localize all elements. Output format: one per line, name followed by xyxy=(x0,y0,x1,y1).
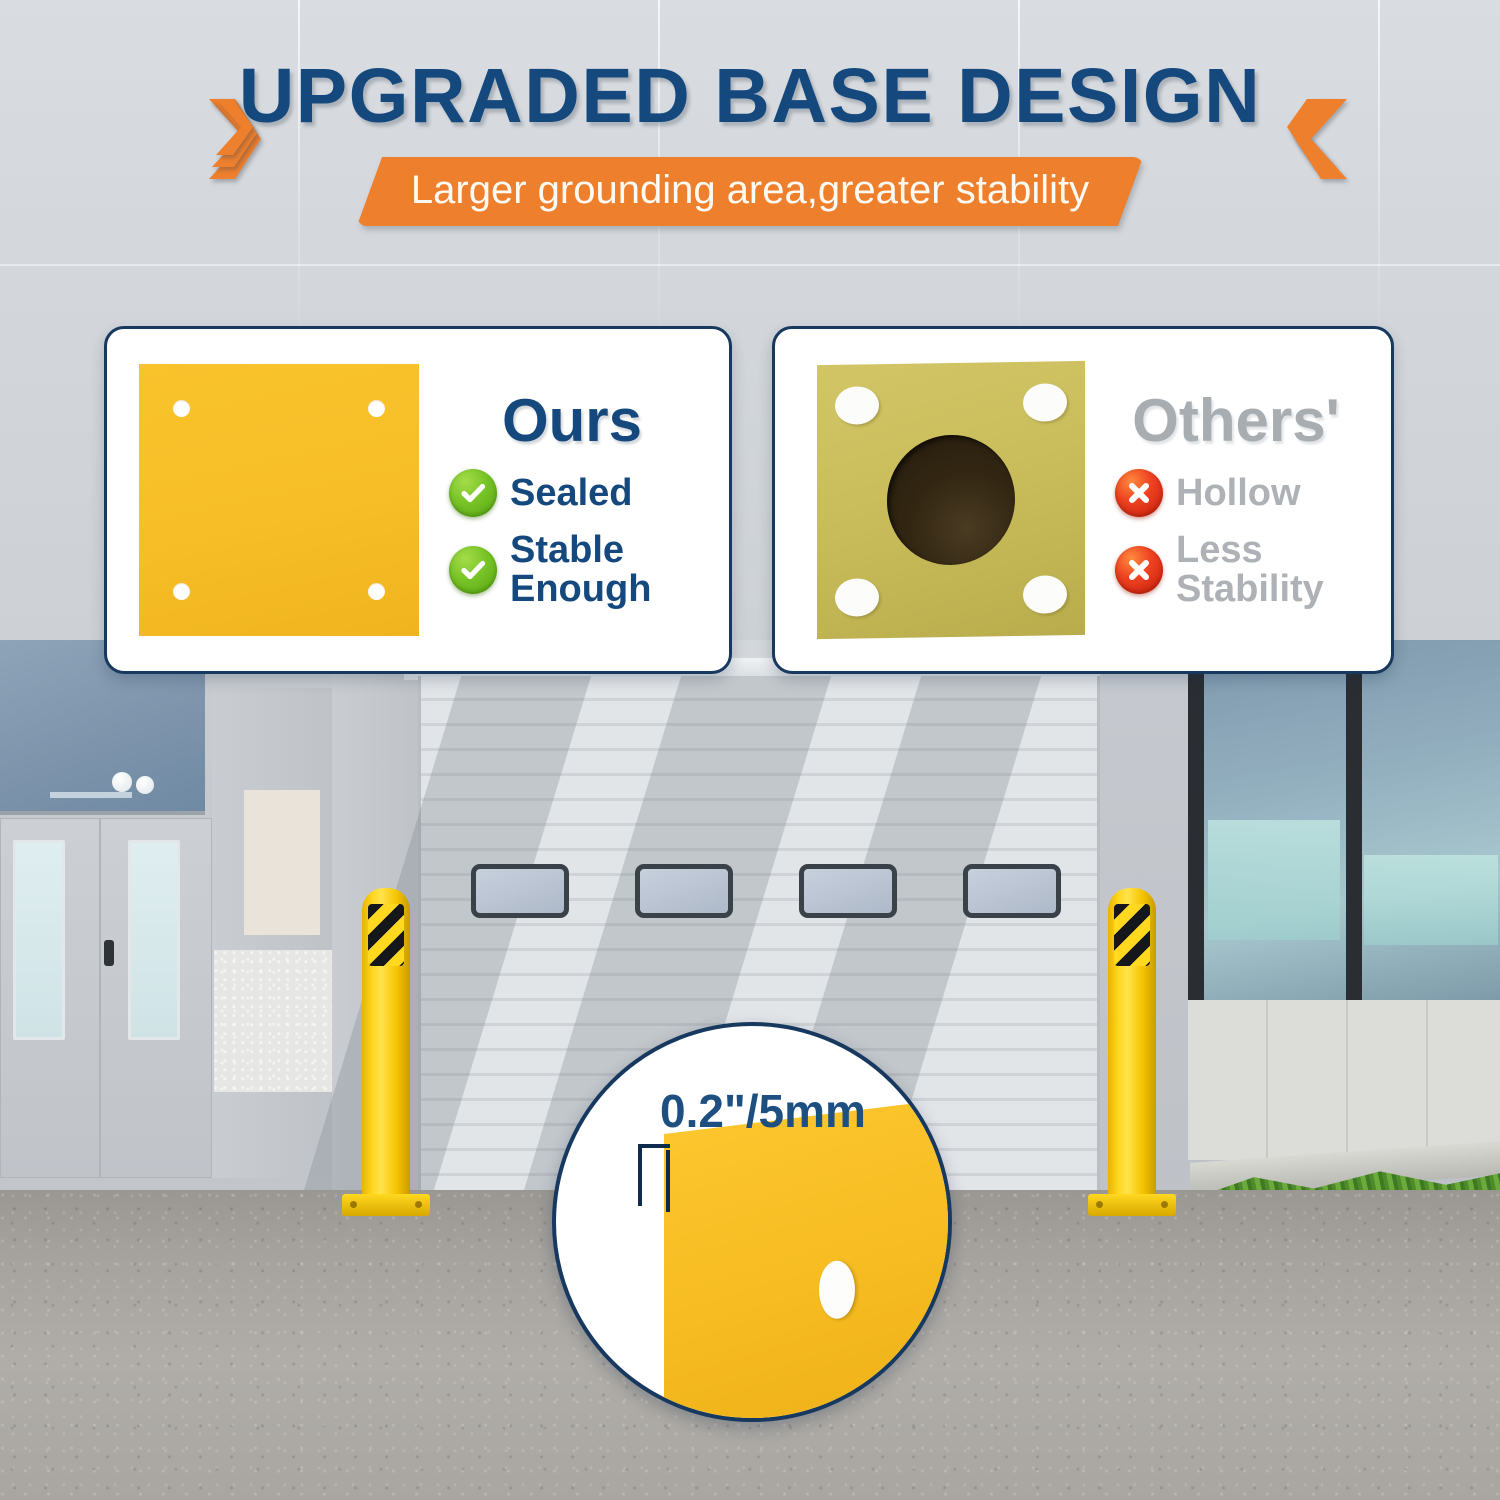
feature-list-others: Hollow Less Stability xyxy=(1099,469,1373,609)
dimension-label: 0.2"/5mm xyxy=(660,1084,866,1138)
center-bore-hole xyxy=(887,434,1015,566)
card-title-others: Others' xyxy=(1099,391,1373,451)
check-circle-icon xyxy=(449,546,497,594)
subtitle-text: Larger grounding area,greater stability xyxy=(411,168,1089,212)
safety-bollard-right xyxy=(1108,888,1156,1198)
sealed-base-plate xyxy=(107,364,419,636)
bolt-hole xyxy=(368,583,385,600)
feature-label: Hollow xyxy=(1176,474,1301,513)
bolt-slot xyxy=(835,578,879,617)
feature-label: Less Stability xyxy=(1176,531,1324,609)
bolt-hole xyxy=(368,400,385,417)
header-banner: UPGRADED BASE DESIGN Larger grounding ar… xyxy=(0,58,1500,226)
garage-door-window xyxy=(963,864,1061,918)
thickness-zoom-callout: 0.2"/5mm xyxy=(552,1022,952,1422)
page-title: UPGRADED BASE DESIGN xyxy=(239,58,1262,135)
hollow-base-plate xyxy=(775,363,1085,637)
bolt-hole xyxy=(173,583,190,600)
window-mullion xyxy=(1346,640,1362,1000)
subtitle-banner: Larger grounding area,greater stability xyxy=(357,157,1143,226)
plate-edge-closeup xyxy=(664,1093,952,1422)
garage-door-window xyxy=(799,864,897,918)
window-mullion xyxy=(1188,640,1204,1000)
feature-item: Sealed xyxy=(449,469,711,517)
wall-patch xyxy=(244,790,320,935)
door-glass-right xyxy=(128,840,180,1040)
bolt-slot xyxy=(1023,575,1067,614)
wall-band xyxy=(0,264,1500,266)
stone-wall-base xyxy=(1188,1000,1500,1160)
door-glass-left xyxy=(13,840,65,1040)
lamp-icon xyxy=(112,772,132,792)
garage-door-window xyxy=(635,864,733,918)
lamp-icon xyxy=(136,776,154,794)
comparison-card-ours: Ours Sealed Stable Enough xyxy=(104,326,732,674)
door-handle xyxy=(104,940,114,966)
x-circle-icon xyxy=(1115,546,1163,594)
bolt-slot xyxy=(835,386,879,425)
feature-label: Stable Enough xyxy=(510,531,651,609)
bolt-hole xyxy=(173,400,190,417)
comparison-card-others: Others' Hollow Less Stability xyxy=(772,326,1394,674)
feature-item: Less Stability xyxy=(1115,531,1373,609)
bolt-hole xyxy=(819,1261,855,1319)
check-circle-icon xyxy=(449,469,497,517)
stucco-patch xyxy=(214,950,332,1092)
safety-bollard-left xyxy=(362,888,410,1198)
feature-list-ours: Sealed Stable Enough xyxy=(433,469,711,609)
feature-item: Stable Enough xyxy=(449,531,711,609)
right-glass-facade xyxy=(1188,640,1500,1000)
feature-item: Hollow xyxy=(1115,469,1373,517)
feature-label: Sealed xyxy=(510,474,633,513)
x-circle-icon xyxy=(1115,469,1163,517)
bolt-slot xyxy=(1023,383,1067,422)
garage-door-window xyxy=(471,864,569,918)
card-title-ours: Ours xyxy=(433,391,711,451)
